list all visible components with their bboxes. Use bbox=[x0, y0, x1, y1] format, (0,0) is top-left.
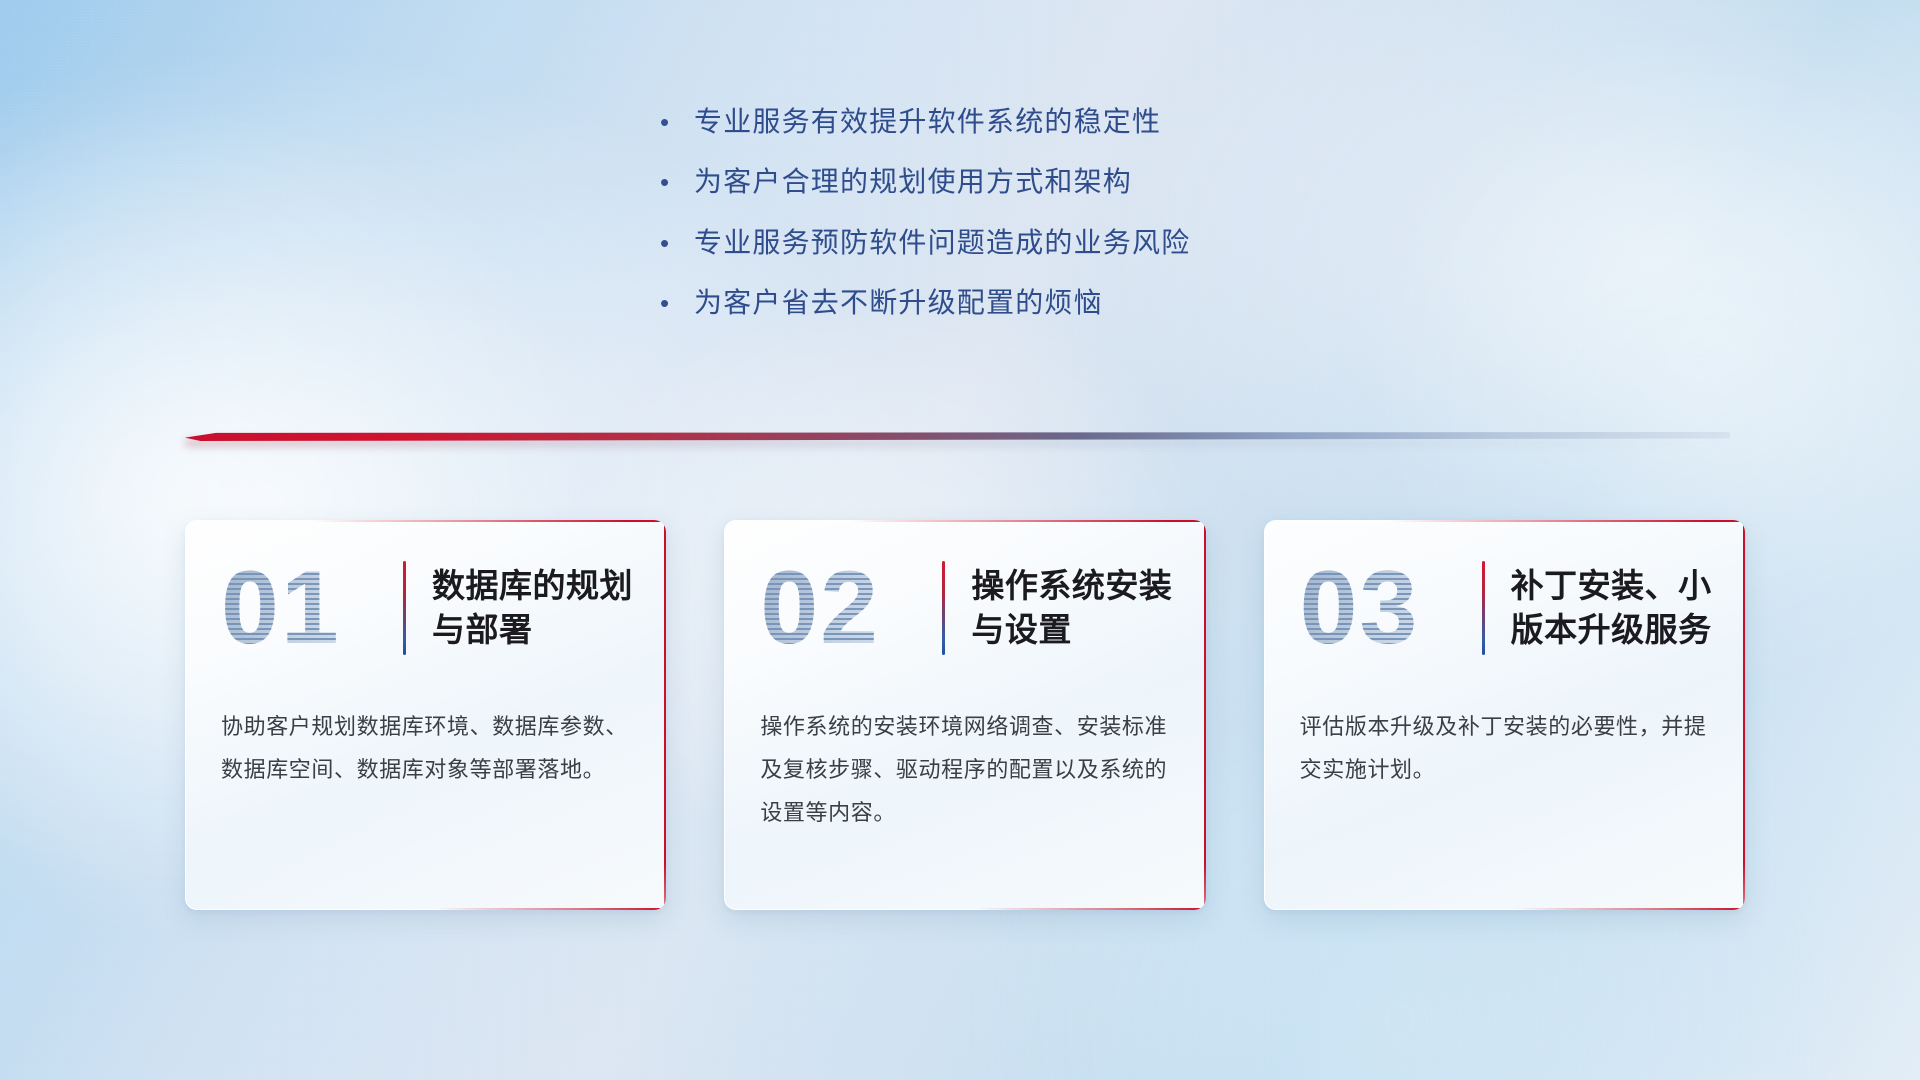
bullet-item: • 专业服务有效提升软件系统的稳定性 bbox=[660, 104, 1480, 140]
card-title-divider bbox=[1482, 561, 1485, 655]
card-description: 协助客户规划数据库环境、数据库参数、数据库空间、数据库对象等部署落地。 bbox=[185, 696, 666, 792]
card-accent-top-line bbox=[1264, 520, 1745, 522]
card-accent-top-line bbox=[724, 520, 1205, 522]
card-title: 补丁安装、小版本升级服务 bbox=[1511, 564, 1715, 652]
card-header: 01 数据库的规划与部署 bbox=[185, 520, 666, 696]
benefits-bullet-list: • 专业服务有效提升软件系统的稳定性 • 为客户合理的规划使用方式和架构 • 专… bbox=[660, 104, 1480, 346]
bullet-marker-icon: • bbox=[660, 109, 694, 135]
card-title: 数据库的规划与部署 bbox=[432, 564, 636, 652]
card-accent-right-line bbox=[1743, 520, 1745, 910]
card-title-divider bbox=[403, 561, 406, 655]
bullet-item-text: 为客户省去不断升级配置的烦恼 bbox=[694, 285, 1103, 321]
card-number-01: 01 bbox=[221, 556, 397, 660]
card-title-divider bbox=[942, 561, 945, 655]
bullet-marker-icon: • bbox=[660, 230, 694, 256]
bullet-marker-icon: • bbox=[660, 290, 694, 316]
card-description: 评估版本升级及补丁安装的必要性，并提交实施计划。 bbox=[1264, 696, 1745, 792]
slide-canvas: • 专业服务有效提升软件系统的稳定性 • 为客户合理的规划使用方式和架构 • 专… bbox=[0, 0, 1920, 1080]
card-accent-bottom-line bbox=[975, 908, 1206, 910]
card-accent-top-line bbox=[185, 520, 666, 522]
bullet-item: • 为客户省去不断升级配置的烦恼 bbox=[660, 285, 1480, 321]
card-title: 操作系统安装与设置 bbox=[971, 564, 1175, 652]
bullet-item-text: 专业服务有效提升软件系统的稳定性 bbox=[694, 104, 1161, 140]
section-divider bbox=[185, 432, 1730, 441]
bullet-item: • 为客户合理的规划使用方式和架构 bbox=[660, 164, 1480, 200]
bullet-item-text: 为客户合理的规划使用方式和架构 bbox=[694, 164, 1132, 200]
card-header: 03 补丁安装、小版本升级服务 bbox=[1264, 520, 1745, 696]
card-accent-right-line bbox=[1204, 520, 1206, 910]
service-card-01[interactable]: 01 数据库的规划与部署 协助客户规划数据库环境、数据库参数、数据库空间、数据库… bbox=[185, 520, 666, 910]
service-card-02[interactable]: 02 操作系统安装与设置 操作系统的安装环境网络调查、安装标准及复核步骤、驱动程… bbox=[724, 520, 1205, 910]
bullet-item-text: 专业服务预防软件问题造成的业务风险 bbox=[694, 225, 1190, 261]
bullet-item: • 专业服务预防软件问题造成的业务风险 bbox=[660, 225, 1480, 261]
bullet-marker-icon: • bbox=[660, 169, 694, 195]
card-accent-bottom-line bbox=[1514, 908, 1745, 910]
card-accent-bottom-line bbox=[435, 908, 666, 910]
card-number-02: 02 bbox=[760, 556, 936, 660]
card-description: 操作系统的安装环境网络调查、安装标准及复核步骤、驱动程序的配置以及系统的设置等内… bbox=[724, 696, 1205, 835]
service-card-03[interactable]: 03 补丁安装、小版本升级服务 评估版本升级及补丁安装的必要性，并提交实施计划。 bbox=[1264, 520, 1745, 910]
service-card-list: 01 数据库的规划与部署 协助客户规划数据库环境、数据库参数、数据库空间、数据库… bbox=[185, 520, 1745, 910]
card-header: 02 操作系统安装与设置 bbox=[724, 520, 1205, 696]
card-number-03: 03 bbox=[1300, 556, 1476, 660]
